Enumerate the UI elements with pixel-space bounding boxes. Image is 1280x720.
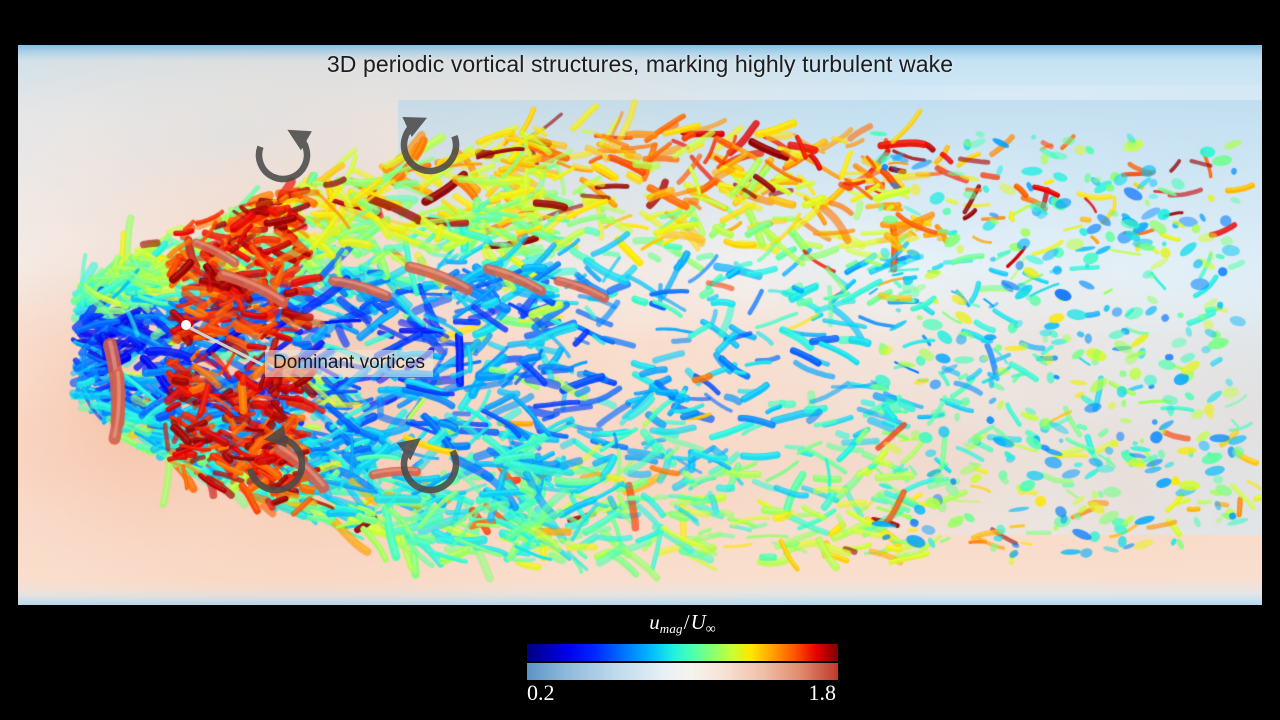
colorbar-title-numerator-subscript: mag bbox=[660, 621, 683, 636]
colorbar-tick-max: 1.8 bbox=[809, 681, 837, 705]
colorbar-legend: umag/U∞ 0.2 1.8 bbox=[527, 612, 838, 707]
colorbar-tick-labels: 0.2 1.8 bbox=[527, 681, 838, 707]
colorbar-tick-min: 0.2 bbox=[527, 681, 555, 705]
vortical-structures-render bbox=[18, 45, 1262, 605]
colorbar-gradient-jet bbox=[527, 644, 838, 661]
page-title: 3D periodic vortical structures, marking… bbox=[18, 51, 1262, 78]
visualization-stage: 3D periodic vortical structures, marking… bbox=[0, 0, 1280, 720]
colorbar-gradient-soft bbox=[527, 663, 838, 680]
colorbar-title-denominator: U bbox=[691, 610, 706, 634]
colorbar-title: umag/U∞ bbox=[527, 612, 838, 637]
colorbar-title-numerator: u bbox=[649, 610, 660, 634]
cfd-visualization-panel: 3D periodic vortical structures, marking… bbox=[18, 45, 1262, 605]
colorbar-title-slash: / bbox=[683, 610, 691, 634]
colorbar-title-denominator-subscript: ∞ bbox=[706, 622, 716, 637]
dominant-vortices-annotation: Dominant vortices bbox=[265, 350, 433, 377]
